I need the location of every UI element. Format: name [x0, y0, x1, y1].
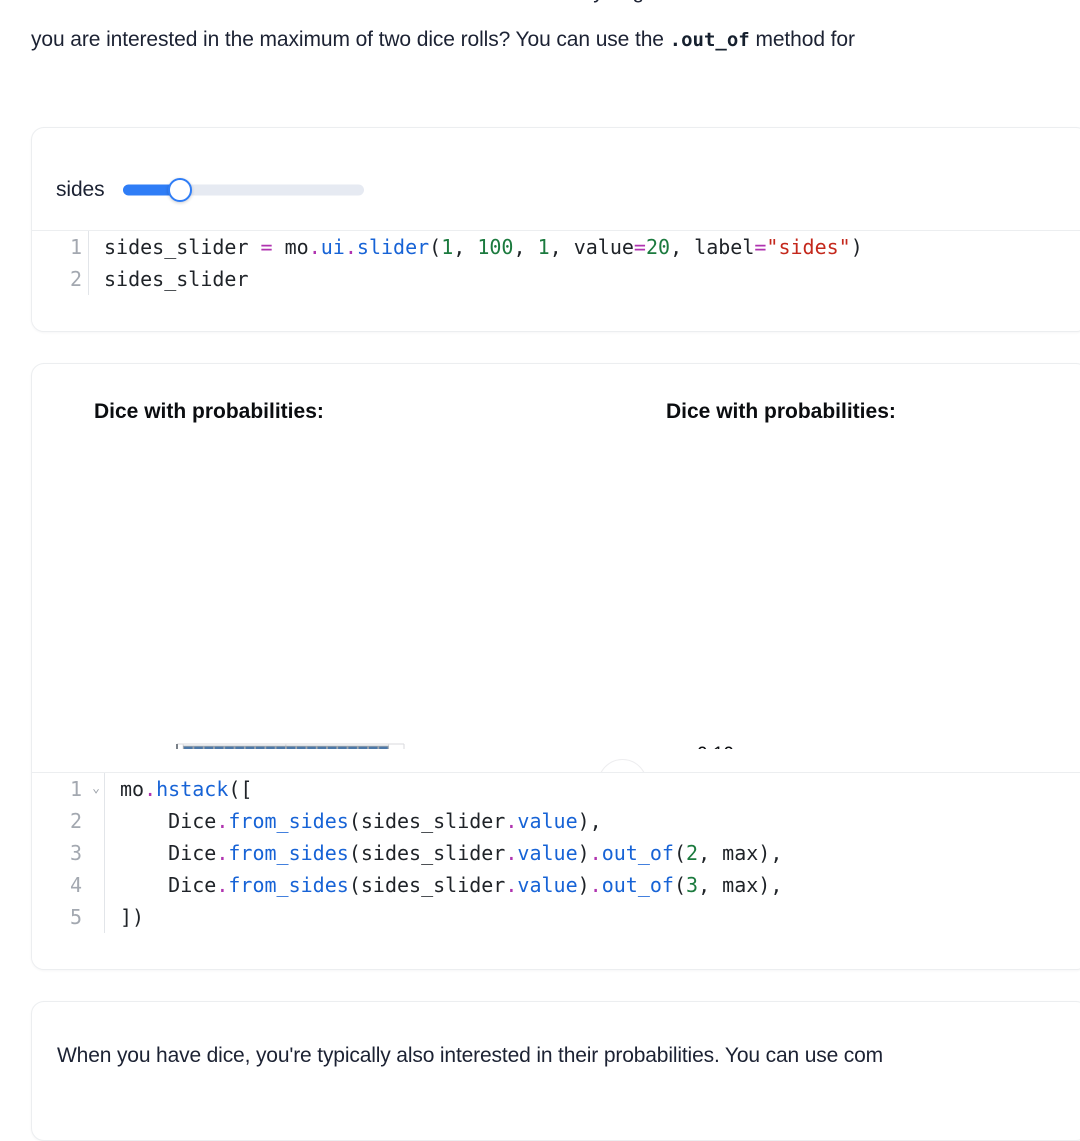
- token-dot: .: [216, 809, 228, 833]
- line-number: 1: [32, 231, 88, 263]
- line-number: 3: [32, 837, 88, 869]
- intro-line-1: These dice have a bunch of utilities att…: [31, 0, 1080, 16]
- token-var: sides_slider: [361, 841, 506, 865]
- line-number: 5: [32, 901, 88, 933]
- token-dot: .: [309, 235, 321, 259]
- token-punct: ),: [578, 809, 602, 833]
- token-function: out_of: [602, 841, 674, 865]
- token-module: mo: [120, 777, 144, 801]
- token-function: from_sides: [228, 873, 348, 897]
- code-text[interactable]: Dice.from_sides(sides_slider.value).out_…: [120, 837, 782, 869]
- token-operator: =: [634, 235, 646, 259]
- token-indent: [120, 841, 168, 865]
- token-keyword-arg: value: [574, 235, 634, 259]
- token-punct: ,: [550, 235, 574, 259]
- token-punct: (: [674, 873, 686, 897]
- prose-cell: When you have dice, you're typically als…: [31, 1001, 1080, 1141]
- gutter-divider: [104, 901, 105, 933]
- sides-slider[interactable]: [123, 179, 364, 201]
- token-builtin: max: [722, 873, 758, 897]
- token-number: 1: [538, 235, 550, 259]
- prose-paragraph: When you have dice, you're typically als…: [57, 1040, 1080, 1072]
- token-punct: ): [851, 235, 863, 259]
- token-var: sides_slider: [361, 809, 506, 833]
- token-indent: [120, 809, 168, 833]
- token-punct: ): [578, 841, 590, 865]
- token-attr: value: [517, 873, 577, 897]
- slider-cell: sides 1 sides_slider = mo.ui.slider(1, 1…: [31, 127, 1080, 332]
- token-builtin: max: [722, 841, 758, 865]
- token-var: sides_slider: [361, 873, 506, 897]
- token-class: Dice: [168, 873, 216, 897]
- token-attr: ui: [321, 235, 345, 259]
- slider-label: sides: [56, 178, 105, 202]
- token-function: from_sides: [228, 841, 348, 865]
- code-text[interactable]: sides_slider: [104, 263, 249, 295]
- gutter-divider: [104, 773, 105, 805]
- code-line[interactable]: 1 sides_slider = mo.ui.slider(1, 100, 1,…: [32, 231, 1080, 263]
- token-class: Dice: [168, 841, 216, 865]
- slider-code-editor[interactable]: 1 sides_slider = mo.ui.slider(1, 100, 1,…: [32, 230, 1080, 332]
- line-number: 2: [32, 805, 88, 837]
- code-text[interactable]: Dice.from_sides(sides_slider.value),: [120, 805, 602, 837]
- code-line[interactable]: 4 Dice.from_sides(sides_slider.value).ou…: [32, 869, 1080, 901]
- line-number: 4: [32, 869, 88, 901]
- token-punct: (: [429, 235, 441, 259]
- slider-thumb[interactable]: [168, 178, 192, 202]
- token-punct: ,: [453, 235, 477, 259]
- token-punct: ),: [758, 841, 782, 865]
- intro-line-2: you are interested in the maximum of two…: [31, 16, 1080, 64]
- token-punct: (: [349, 809, 361, 833]
- token-operator: =: [754, 235, 766, 259]
- token-punct: ,: [513, 235, 537, 259]
- token-string: "sides": [766, 235, 850, 259]
- gutter-divider: [104, 869, 105, 901]
- intro-line-2-part-a: you are interested in the maximum of two…: [31, 28, 670, 51]
- token-dot: .: [216, 873, 228, 897]
- code-text[interactable]: Dice.from_sides(sides_slider.value).out_…: [120, 869, 782, 901]
- svg-text:0.10: 0.10: [697, 744, 734, 749]
- token-punct: ),: [758, 873, 782, 897]
- token-punct: (: [674, 841, 686, 865]
- charts-cell: Dice with probabilities: 0.000.020.04010…: [31, 363, 1080, 970]
- slider-cell-output: sides: [32, 128, 1080, 230]
- code-text[interactable]: mo.hstack([: [120, 773, 252, 805]
- code-line[interactable]: 3 Dice.from_sides(sides_slider.value).ou…: [32, 837, 1080, 869]
- gutter-divider: [88, 231, 89, 263]
- token-function: slider: [357, 235, 429, 259]
- token-indent: [120, 873, 168, 897]
- token-number: 2: [686, 841, 698, 865]
- token-dot: .: [590, 841, 602, 865]
- token-attr: value: [517, 841, 577, 865]
- chart-canvas: 0.000.050.1001020: [602, 419, 1002, 749]
- token-number: 1: [441, 235, 453, 259]
- token-punct: ): [578, 873, 590, 897]
- token-dot: .: [505, 809, 517, 833]
- token-dot: .: [505, 873, 517, 897]
- token-dot: .: [590, 873, 602, 897]
- token-punct: (: [349, 873, 361, 897]
- token-operator: =: [249, 235, 285, 259]
- code-line[interactable]: 2 Dice.from_sides(sides_slider.value),: [32, 805, 1080, 837]
- token-dot: .: [505, 841, 517, 865]
- token-punct: ,: [670, 235, 694, 259]
- inline-code-out-of: .out_of: [670, 29, 750, 51]
- token-function: hstack: [156, 777, 228, 801]
- chevron-down-icon[interactable]: ⌄: [88, 773, 104, 805]
- intro-line-2-part-b: method for: [750, 28, 855, 51]
- token-function: out_of: [602, 873, 674, 897]
- gutter-divider: [104, 805, 105, 837]
- token-module: mo: [285, 235, 309, 259]
- gutter-divider: [104, 837, 105, 869]
- token-number: 3: [686, 873, 698, 897]
- token-dot: .: [144, 777, 156, 801]
- charts-code-editor[interactable]: 1 ⌄ mo.hstack([ 2 Dice.from_sides(sides_…: [32, 772, 1080, 970]
- token-punct: (: [349, 841, 361, 865]
- token-punct: ([: [228, 777, 252, 801]
- token-attr: value: [517, 809, 577, 833]
- line-number: 2: [32, 263, 88, 295]
- code-line[interactable]: 1 ⌄ mo.hstack([: [32, 773, 1080, 805]
- token-number: 100: [477, 235, 513, 259]
- intro-paragraph: These dice have a bunch of utilities att…: [31, 0, 1080, 64]
- token-dot: .: [216, 841, 228, 865]
- charts-output: Dice with probabilities: 0.000.020.04010…: [32, 364, 1080, 772]
- code-line[interactable]: 2 sides_slider: [32, 263, 1080, 295]
- token-punct: ,: [698, 841, 722, 865]
- token-dot: .: [345, 235, 357, 259]
- code-text[interactable]: sides_slider = mo.ui.slider(1, 100, 1, v…: [104, 231, 863, 263]
- slider-row: sides: [56, 178, 364, 202]
- token-var: sides_slider: [104, 235, 249, 259]
- chart-canvas: 0.000.020.0401020: [32, 419, 432, 749]
- code-line[interactable]: 5 ]): [32, 901, 1080, 933]
- token-function: from_sides: [228, 809, 348, 833]
- token-number: 20: [646, 235, 670, 259]
- gutter-divider: [88, 263, 89, 295]
- line-number: 1: [32, 773, 88, 805]
- token-class: Dice: [168, 809, 216, 833]
- token-punct: ,: [698, 873, 722, 897]
- code-text[interactable]: ]): [120, 901, 144, 933]
- token-keyword-arg: label: [694, 235, 754, 259]
